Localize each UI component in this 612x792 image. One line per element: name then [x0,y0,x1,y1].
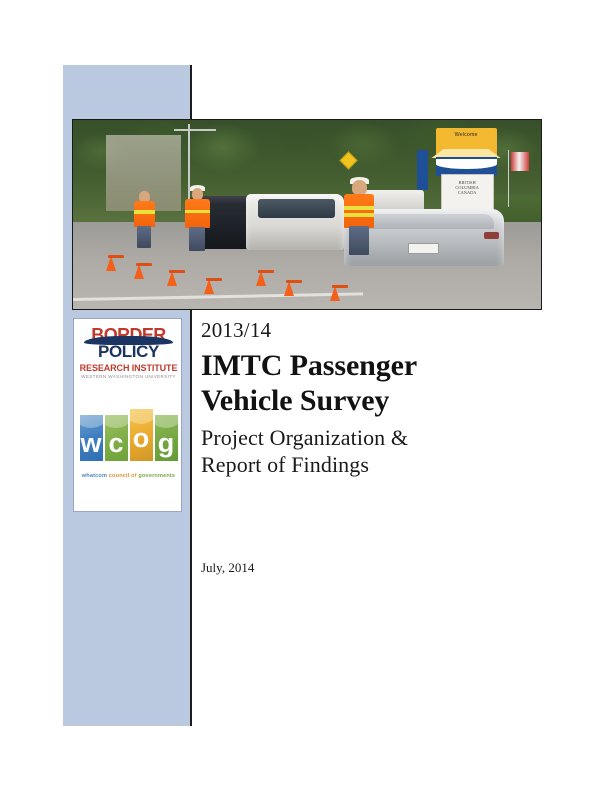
white-van [246,194,344,251]
title-block: 2013/14 IMTC Passenger Vehicle Survey Pr… [201,318,541,478]
license-plate [408,243,439,254]
van-rear-window [258,199,335,218]
publication-date: July, 2014 [201,560,254,576]
lane-marking [73,293,363,302]
report-year: 2013/14 [201,318,541,343]
traffic-cone [134,264,144,279]
whatcom-council-of-governments-logo: w c o g whatcom council of governments [78,415,179,480]
survey-worker-2 [185,199,209,250]
sign-side-panel [417,150,428,190]
vest-reflective-stripe [344,206,374,210]
page-subtitle-line-1: Project Organization & [201,424,541,451]
page-title-line-2: Vehicle Survey [201,383,541,418]
sign-welcome-text: Welcome [436,132,497,138]
safety-vest [134,201,156,226]
traffic-cone [204,279,214,294]
survey-worker-3 [344,194,374,254]
wcog-arc-shape [155,415,178,428]
light-pole-arm [174,129,216,131]
wcog-arc-shape [130,409,153,424]
wcog-letter-blocks: w c o g [78,415,179,463]
bpri-policy-wordmark: POLICY [78,343,179,361]
worker-legs [349,226,369,255]
wcog-block-o: o [130,409,153,461]
vest-reflective-stripe [344,213,374,217]
traffic-cone [167,271,177,286]
traffic-cone [330,286,340,301]
wcog-tagline-part-3: governments [138,473,175,479]
safety-vest [344,194,374,228]
wcog-letter: o [130,425,153,452]
page-subtitle-line-2: Report of Findings [201,451,541,478]
page-title-line-1: IMTC Passenger [201,348,541,383]
welcome-to-british-columbia-sign: Welcome BRITISH COLUMBIA CANADA [436,128,497,215]
page-title: IMTC Passenger Vehicle Survey [201,348,541,418]
car-taillight-right [484,232,498,239]
logo-panel: BORDER POLICY RESEARCH INSTITUTE WESTERN… [73,318,182,512]
wcog-letter: g [155,430,178,457]
wcog-tagline-part-2: council of [109,473,139,479]
sign-province-text: BRITISH COLUMBIA CANADA [442,180,493,195]
wcog-tagline: whatcom council of governments [78,472,179,480]
wcog-arc-shape [105,415,128,428]
wcog-tagline-part-1: whatcom [82,473,109,479]
sign-top-yellow-panel: Welcome [436,128,497,158]
safety-vest [185,199,209,228]
worker-legs [137,226,151,248]
document-page: Welcome BRITISH COLUMBIA CANADA [0,0,612,792]
wcog-block-c: c [105,415,128,461]
bpri-university-text: WESTERN WASHINGTON UNIVERSITY [78,374,179,380]
vest-reflective-stripe [185,210,209,214]
sign-country-line: CANADA [442,190,493,195]
cover-photograph: Welcome BRITISH COLUMBIA CANADA [72,119,542,310]
bpri-research-institute-text: RESEARCH INSTITUTE [78,363,179,374]
vest-reflective-stripe [134,210,156,213]
wcog-letter: c [105,430,128,457]
wcog-block-g: g [155,415,178,461]
photograph-scene: Welcome BRITISH COLUMBIA CANADA [73,120,541,309]
traffic-cone [284,281,294,296]
sign-text-panel: BRITISH COLUMBIA CANADA [441,174,494,211]
canadian-flag-icon [511,152,530,171]
border-policy-research-institute-logo: BORDER POLICY RESEARCH INSTITUTE WESTERN… [78,327,179,393]
wave-icon [436,159,497,169]
worker-legs [189,227,205,251]
wcog-letter: w [80,430,103,457]
traffic-cone [256,271,266,286]
flagpole [508,150,509,207]
traffic-cone [106,256,116,271]
survey-worker-1 [134,201,156,246]
wcog-block-w: w [80,415,103,461]
sign-blue-wave-panel [436,157,497,176]
wcog-arc-shape [80,415,103,428]
worker-head [352,180,366,195]
car-trunk-deck [354,214,494,229]
page-subtitle: Project Organization & Report of Finding… [201,424,541,478]
